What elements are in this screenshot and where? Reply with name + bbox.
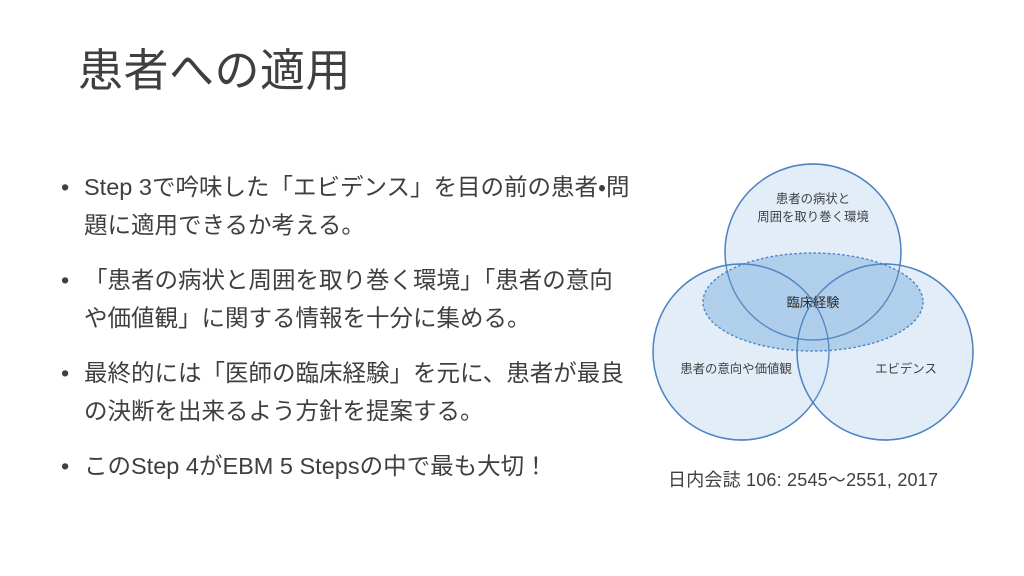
list-item: • 最終的には「医師の臨床経験」を元に、患者が最良の決断を出来るよう方針を提案す… <box>56 354 636 430</box>
venn-label-left: 患者の意向や価値観 <box>680 361 792 376</box>
venn-label-top-line2: 周囲を取り巻く環境 <box>757 210 869 224</box>
list-item-text: Step 3で吟味した「エビデンス」を目の前の患者・問題に適用できるか考える。 <box>84 174 629 238</box>
venn-label-center: 臨床経験 <box>787 295 840 310</box>
venn-diagram-svg: 患者の病状と 周囲を取り巻く環境 臨床経験 患者の意向や価値観 エビデンス <box>648 156 978 456</box>
list-item: • 「患者の病状と周囲を取り巻く環境」「患者の意向や価値観」に関する情報を十分に… <box>56 261 636 337</box>
list-item-text: 最終的には「医師の臨床経験」を元に、患者が最良の決断を出来るよう方針を提案する。 <box>84 360 624 424</box>
list-item: • Step 3で吟味した「エビデンス」を目の前の患者・問題に適用できるか考える… <box>56 168 636 244</box>
citation-text: 日内会誌 106: 2545〜2551, 2017 <box>668 466 938 492</box>
bullet-marker-icon: • <box>61 447 69 485</box>
slide-canvas: 患者への適用 • Step 3で吟味した「エビデンス」を目の前の患者・問題に適用… <box>0 0 1024 576</box>
bullet-marker-icon: • <box>61 168 69 206</box>
bullet-list: • Step 3で吟味した「エビデンス」を目の前の患者・問題に適用できるか考える… <box>56 168 636 485</box>
venn-label-right: エビデンス <box>875 361 937 376</box>
list-item-text: 「患者の病状と周囲を取り巻く環境」「患者の意向や価値観」に関する情報を十分に集め… <box>84 267 613 331</box>
list-item: • このStep 4がEBM 5 Stepsの中で最も大切！ <box>56 447 636 485</box>
venn-label-top-line1: 患者の病状と <box>776 192 850 206</box>
list-item-text: このStep 4がEBM 5 Stepsの中で最も大切！ <box>84 453 548 479</box>
venn-diagram: 患者の病状と 周囲を取り巻く環境 臨床経験 患者の意向や価値観 エビデンス <box>648 156 978 456</box>
page-title: 患者への適用 <box>78 44 778 99</box>
bullet-marker-icon: • <box>61 354 69 392</box>
bullet-marker-icon: • <box>61 261 69 299</box>
